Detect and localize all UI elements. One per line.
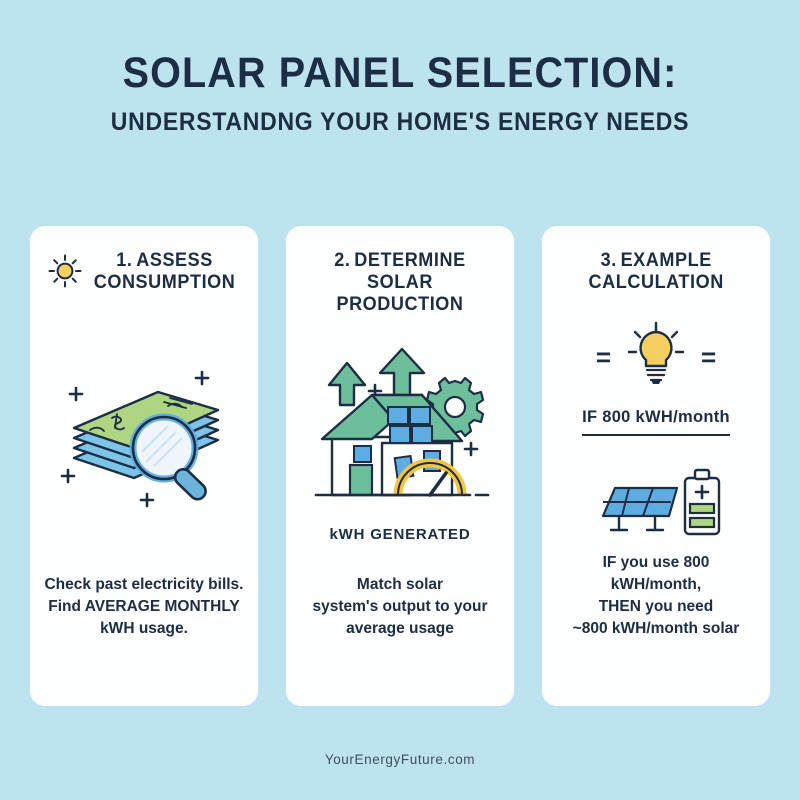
- equals-sign-right: =: [701, 344, 716, 370]
- step-1-header: 1.ASSESS CONSUMPTION: [44, 250, 244, 312]
- house-solar-gauge-icon: [300, 347, 500, 524]
- step-1-body: Check past electricity bills. Find AVERA…: [44, 574, 243, 688]
- step-2-body: Match solar system's output to your aver…: [312, 574, 487, 688]
- step-3-title: 3.EXAMPLE CALCULATION: [588, 250, 723, 294]
- equals-sign-left: =: [596, 344, 611, 370]
- step-2-art-caption: kWH GENERATED: [330, 526, 471, 543]
- step-1-title-line1: ASSESS: [137, 250, 214, 271]
- step-2-title-line1: DETERMINE: [354, 250, 465, 271]
- step-2-header: 2.DETERMINE SOLAR PRODUCTION: [300, 250, 500, 316]
- lightbulb-icon: [625, 321, 687, 392]
- step-2-title: 2.DETERMINE SOLAR PRODUCTION: [305, 250, 495, 316]
- step-1-title: 1.ASSESS CONSUMPTION: [94, 250, 236, 294]
- step-1-title-line2: CONSUMPTION: [94, 272, 236, 294]
- sun-icon: [48, 254, 82, 293]
- step-2-title-line2: SOLAR PRODUCTION: [305, 272, 495, 316]
- step-card-3[interactable]: 3.EXAMPLE CALCULATION =: [542, 226, 770, 706]
- header: SOLAR PANEL SELECTION: UNDERSTANDNG YOUR…: [0, 0, 800, 137]
- equation-row: =: [596, 321, 716, 392]
- step-card-1[interactable]: 1.ASSESS CONSUMPTION: [30, 226, 258, 706]
- step-1-number: 1.: [117, 250, 133, 271]
- step-3-title-line2: CALCULATION: [588, 272, 723, 294]
- step-3-header: 3.EXAMPLE CALCULATION: [556, 250, 756, 312]
- step-card-2[interactable]: 2.DETERMINE SOLAR PRODUCTION: [286, 226, 514, 706]
- steps-container: 1.ASSESS CONSUMPTION: [30, 226, 770, 706]
- step-1-illustration: [44, 312, 244, 574]
- solar-panel-battery-icon: [581, 462, 731, 543]
- footer-website[interactable]: YourEnergyFuture.com: [0, 752, 800, 767]
- if-condition-label: IF 800 kWH/month: [582, 408, 730, 436]
- money-magnifier-icon: [46, 366, 242, 521]
- page-title: SOLAR PANEL SELECTION:: [32, 52, 768, 95]
- step-2-illustration: kWH GENERATED: [300, 316, 500, 574]
- step-3-illustration: =: [556, 312, 756, 552]
- step-3-body: IF you use 800 kWH/month, THEN you need …: [556, 552, 756, 688]
- step-3-title-line1: EXAMPLE: [620, 250, 711, 271]
- page-subtitle: UNDERSTANDNG YOUR HOME'S ENERGY NEEDS: [32, 108, 768, 137]
- step-2-number: 2.: [334, 250, 350, 271]
- step-3-number: 3.: [600, 250, 616, 271]
- infographic-poster: SOLAR PANEL SELECTION: UNDERSTANDNG YOUR…: [0, 0, 800, 800]
